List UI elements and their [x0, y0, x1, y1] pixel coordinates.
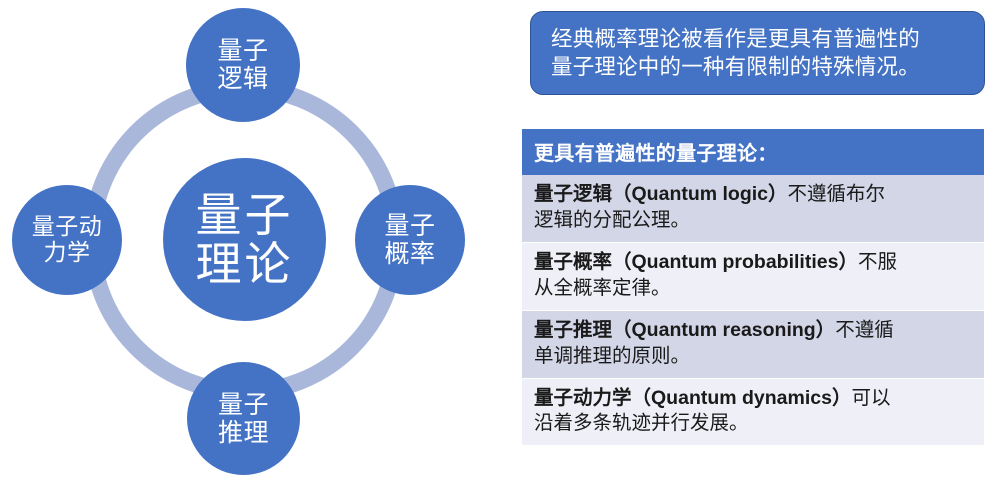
table-row[interactable]: 量子推理（Quantum reasoning）不遵循 单调推理的原则。 — [522, 311, 984, 379]
node-quantum-theory-line2: 理论 — [196, 240, 294, 289]
quantum-theory-table: 更具有普遍性的量子理论： 量子逻辑（Quantum logic）不遵循布尔 逻辑… — [522, 129, 984, 446]
table-row-tail: 不遵循布尔 — [788, 183, 886, 205]
table-row-term-cn: 量子逻辑 — [534, 183, 612, 205]
cycle-diagram: 量子 理论 量子 逻辑 量子 概率 量子 推理 量子动 力学 — [0, 0, 500, 484]
table-row[interactable]: 量子逻辑（Quantum logic）不遵循布尔 逻辑的分配公理。 — [522, 175, 984, 243]
node-quantum-theory-line1: 量子 — [196, 191, 294, 240]
callout-box: 经典概率理论被看作是更具有普遍性的 量子理论中的一种有限制的特殊情况。 — [530, 11, 985, 95]
callout-line2: 量子理论中的一种有限制的特殊情况。 — [551, 54, 964, 82]
table-row-line1: 量子动力学（Quantum dynamics）可以 — [534, 386, 972, 412]
table-row-line2: 逻辑的分配公理。 — [534, 208, 972, 234]
table-row-tail: 不遵循 — [835, 319, 894, 341]
callout-line1: 经典概率理论被看作是更具有普遍性的 — [551, 26, 964, 54]
node-quantum-logic-line2: 逻辑 — [217, 65, 268, 93]
node-quantum-reasoning[interactable]: 量子 推理 — [187, 362, 300, 475]
table-row-term-cn: 量子概率 — [534, 251, 612, 273]
table-row-tail: 可以 — [851, 387, 890, 409]
node-quantum-probability-line2: 概率 — [384, 240, 435, 268]
node-quantum-dynamics[interactable]: 量子动 力学 — [12, 185, 122, 295]
table-row-line1: 量子概率（Quantum probabilities）不服 — [534, 250, 972, 276]
table-header: 更具有普遍性的量子理论： — [522, 129, 984, 175]
node-quantum-probability-line1: 量子 — [384, 212, 435, 240]
table-row-line1: 量子推理（Quantum reasoning）不遵循 — [534, 318, 972, 344]
table-row-line2: 从全概率定律。 — [534, 276, 972, 302]
node-quantum-reasoning-line2: 推理 — [218, 419, 269, 447]
table-row-line2: 沿着多条轨迹并行发展。 — [534, 411, 972, 437]
node-quantum-theory[interactable]: 量子 理论 — [163, 158, 326, 321]
node-quantum-logic-line1: 量子 — [217, 37, 268, 65]
table-row-term-cn: 量子动力学 — [534, 387, 632, 409]
table-row-tail: 不服 — [858, 251, 897, 273]
right-panel: 经典概率理论被看作是更具有普遍性的 量子理论中的一种有限制的特殊情况。 更具有普… — [515, 0, 997, 484]
node-quantum-dynamics-line1: 量子动 — [32, 214, 103, 240]
table-row[interactable]: 量子动力学（Quantum dynamics）可以 沿着多条轨迹并行发展。 — [522, 379, 984, 447]
table-row-term-en: （Quantum reasoning） — [612, 319, 835, 341]
table-row-term-cn: 量子推理 — [534, 319, 612, 341]
table-row-line2: 单调推理的原则。 — [534, 344, 972, 370]
table-row-term-en: （Quantum logic） — [612, 183, 788, 205]
table-row-line1: 量子逻辑（Quantum logic）不遵循布尔 — [534, 182, 972, 208]
table-row-term-en: （Quantum probabilities） — [612, 251, 858, 273]
node-quantum-dynamics-line2: 力学 — [44, 240, 91, 266]
node-quantum-logic[interactable]: 量子 逻辑 — [186, 8, 300, 122]
node-quantum-probability[interactable]: 量子 概率 — [355, 185, 465, 295]
table-row[interactable]: 量子概率（Quantum probabilities）不服 从全概率定律。 — [522, 243, 984, 311]
table-row-term-en: （Quantum dynamics） — [632, 387, 852, 409]
node-quantum-reasoning-line1: 量子 — [218, 391, 269, 419]
